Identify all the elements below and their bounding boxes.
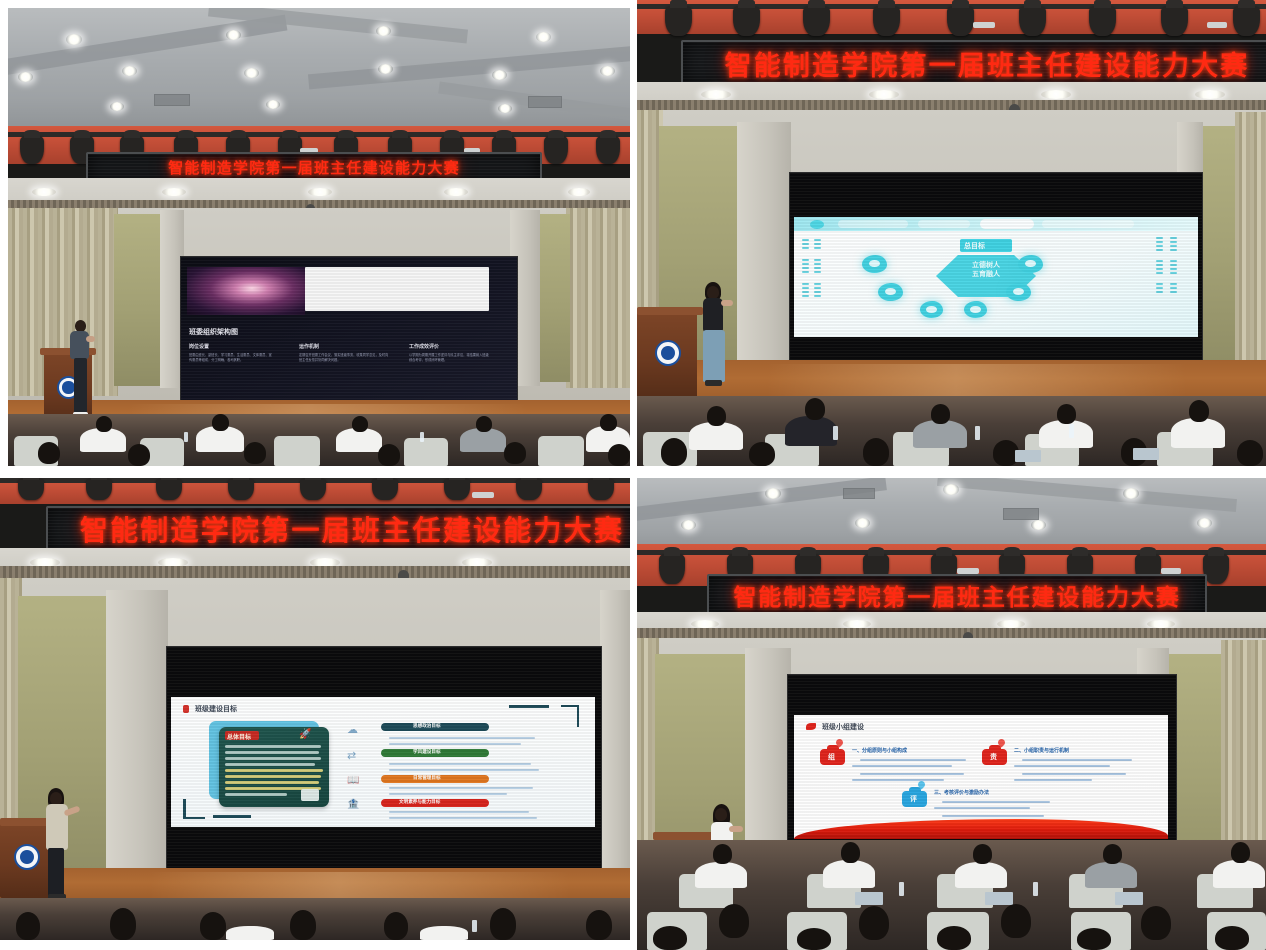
- goal-bar-label: 日常管理目标: [413, 775, 441, 781]
- slide-column-title: 工作成效评价: [409, 343, 439, 350]
- downlight: [765, 488, 781, 499]
- slide-block-heading: 一、分组原则与小组构成: [852, 747, 907, 754]
- slide-card-badge-label: 总体目标: [227, 732, 251, 741]
- lighting-truss: [8, 132, 630, 137]
- slide-left-text: [814, 239, 821, 297]
- stage-spotlight: [1161, 6, 1188, 36]
- wall-downlight: [32, 188, 56, 196]
- water-bottle: [420, 432, 424, 442]
- led-banner-text: 智能制造学院第一届班主任建设能力大赛: [725, 44, 1250, 83]
- slide-title-mark: [183, 705, 189, 713]
- stage-spotlight: [18, 478, 44, 500]
- hex-line-2: 五育融人: [972, 270, 1000, 278]
- hex-line-1: 立德树人: [972, 261, 1000, 269]
- wall-downlight: [843, 620, 871, 628]
- audience: [8, 414, 630, 466]
- led-banner: 智能制造学院第一届班主任建设能力大赛: [707, 574, 1207, 616]
- photo-top-left: 智能制造学院第一届班主任建设能力大赛 班委组织架构图 岗位设置 班委由班长、副班…: [8, 8, 630, 466]
- slide-footer-wave: [794, 819, 1168, 839]
- downlight: [1031, 520, 1046, 530]
- slide-nav-pill: [838, 220, 908, 228]
- downlight: [18, 72, 33, 82]
- presenter-shoe: [705, 380, 722, 386]
- audience-shoulders: [1085, 862, 1137, 888]
- corner-decoration: [183, 799, 186, 817]
- slide-left-text: [802, 239, 809, 297]
- led-banner-text: 智能制造学院第一届班主任建设能力大赛: [80, 509, 624, 549]
- audience-head: [1103, 844, 1122, 864]
- stage-led-screen: 总目标 立德树人 五育融人: [789, 172, 1203, 376]
- slide-chip-glyph: 评: [910, 794, 917, 804]
- card-text-line: [225, 757, 321, 760]
- slide-white-panel: [305, 267, 489, 311]
- goal-bullet: [389, 793, 507, 795]
- slide-heading: 班委组织架构图: [189, 327, 238, 337]
- water-bottle: [184, 432, 188, 442]
- goal-bullet: [389, 817, 537, 819]
- goal-bullet: [389, 743, 521, 745]
- card-text-line: [225, 793, 287, 796]
- slide-text-line: [934, 807, 1030, 809]
- slide-chip-glyph: 组: [828, 752, 835, 762]
- card-text-line: [225, 763, 315, 766]
- wall-panel: [536, 214, 570, 382]
- audience-head: [1077, 928, 1111, 950]
- stage-spotlight: [733, 6, 760, 36]
- laptop: [985, 892, 1013, 905]
- card-text-line-highlight: [225, 775, 321, 778]
- stage-spotlight: [803, 6, 830, 36]
- audience: [0, 898, 630, 940]
- slide-node: [920, 301, 943, 318]
- stage-spotlight: [372, 478, 398, 500]
- slide-text-line: [1022, 773, 1126, 775]
- stage-spotlight: [588, 478, 614, 500]
- podium-emblem: [14, 844, 40, 870]
- stage-curtain: [1235, 112, 1266, 368]
- downlight: [226, 30, 241, 40]
- wall-downlight: [1147, 620, 1175, 628]
- audience-head: [244, 442, 266, 464]
- audience-head: [1231, 842, 1250, 863]
- audience-head: [504, 442, 526, 464]
- audience-head: [128, 444, 150, 466]
- slide-title: 班级建设目标: [195, 704, 237, 714]
- stage-led-screen: 班委组织架构图 岗位设置 班委由班长、副班长、学习委员、生活委员、文体委员、宣传…: [180, 256, 518, 410]
- downlight: [943, 484, 959, 495]
- slide-column-body: 以学期为周期开展工作述评与民主评议，将结果纳入班级综合考评，形成闭环管理。: [409, 353, 491, 362]
- audience-head: [859, 906, 889, 940]
- stage-spotlight: [596, 136, 620, 164]
- audience-head: [841, 842, 860, 863]
- audience-head: [863, 438, 889, 466]
- stage-spotlight: [659, 554, 685, 584]
- stage-spotlight: [516, 478, 542, 500]
- led-banner: 智能制造学院第一届班主任建设能力大赛: [681, 40, 1266, 86]
- slide-node: [1018, 255, 1043, 273]
- audience-head: [352, 416, 368, 432]
- stage-spotlight: [228, 478, 254, 500]
- wall-pillar: [737, 122, 791, 372]
- slide-photo: [187, 267, 305, 315]
- goal-bar-label: 文明素养与能力目标: [399, 799, 440, 805]
- audience-head: [973, 844, 992, 864]
- audience-head: [1057, 404, 1076, 424]
- audience-shoulders: [785, 416, 837, 446]
- exchange-icon: ⇄: [347, 749, 356, 762]
- audience-head: [707, 406, 726, 426]
- slide-title-mark: [806, 723, 816, 730]
- card-text-line-highlight: [225, 769, 323, 772]
- slide-logo-dot: [810, 220, 824, 229]
- audience-head: [600, 414, 617, 431]
- photo-collage: 智能制造学院第一届班主任建设能力大赛 班委组织架构图 岗位设置 班委由班长、副班…: [0, 0, 1266, 950]
- slide-teal: 总目标 立德树人 五育融人: [794, 217, 1198, 337]
- spotlight-body: [1207, 22, 1227, 28]
- audience-head: [1189, 400, 1209, 422]
- slide-text-line: [1014, 765, 1110, 767]
- audience-head: [1237, 440, 1263, 466]
- wall-downlight: [691, 620, 719, 628]
- slide-text-line: [1022, 759, 1132, 761]
- ac-vent: [154, 94, 190, 106]
- stage-spotlight: [1089, 6, 1116, 36]
- slide-column-body: 班委由班长、副班长、学习委员、生活委员、文体委员、宣传委员等组成，分工明确，各司…: [189, 353, 275, 362]
- card-text-line: [225, 751, 319, 754]
- slide-column-body: 定期召开班委工作会议，落实班级事务，收集同学意见，及时向班主任反馈并协同解决问题…: [299, 353, 391, 362]
- presenter-head: [715, 808, 727, 821]
- slide-text-line: [852, 779, 944, 781]
- downlight: [681, 520, 696, 530]
- audience-head: [1001, 904, 1031, 938]
- audience-head: [16, 912, 40, 940]
- ac-vent: [843, 488, 875, 499]
- goal-bar-label: 思想政治目标: [413, 723, 441, 729]
- water-bottle: [833, 426, 838, 440]
- photo-bottom-left: 智能制造学院第一届班主任建设能力大赛 班级建设目标: [0, 478, 630, 940]
- water-bottle: [1069, 424, 1074, 438]
- led-banner-text: 智能制造学院第一届班主任建设能力大赛: [168, 157, 460, 178]
- audience-head: [110, 908, 136, 940]
- stage-spotlight: [86, 478, 112, 500]
- audience: [637, 396, 1266, 466]
- stage-spotlight: [20, 136, 44, 164]
- audience-shoulders: [955, 862, 1007, 888]
- presenter-arm: [729, 826, 743, 832]
- slide-text-line: [860, 773, 964, 775]
- audience-shoulders: [226, 926, 274, 940]
- water-bottle: [975, 426, 980, 440]
- audience-head: [378, 444, 400, 466]
- slide-top-caption-label: 总目标: [964, 241, 985, 251]
- audience-head: [797, 928, 831, 950]
- wall-downlight: [444, 188, 468, 196]
- slide-nav-active: [980, 219, 1034, 229]
- slide-chip-glyph: 责: [990, 752, 997, 762]
- stage-spotlight: [156, 478, 182, 500]
- slide-text-line: [942, 815, 1044, 817]
- slide-right-text: [1156, 237, 1163, 293]
- slide-text-line: [860, 759, 966, 761]
- slide-node: [878, 283, 903, 301]
- audience-shoulders: [913, 420, 967, 448]
- laptop: [1133, 448, 1159, 460]
- audience-head: [937, 926, 971, 950]
- photo-top-right: 智能制造学院第一届班主任建设能力大赛 总目标: [637, 0, 1266, 466]
- wall-downlight: [1195, 90, 1225, 99]
- corner-decoration: [183, 817, 205, 819]
- audience-shoulders: [420, 926, 468, 940]
- slide-text-line: [852, 765, 952, 767]
- audience-head: [384, 912, 408, 940]
- audience-head: [586, 910, 612, 940]
- goal-bullet: [389, 811, 529, 813]
- wall-downlight: [568, 188, 590, 196]
- slide-dark: 班委组织架构图 岗位设置 班委由班长、副班长、学习委员、生活委员、文体委员、宣传…: [181, 257, 517, 409]
- audience-head: [1141, 906, 1171, 940]
- audience-head: [931, 404, 950, 424]
- wall-downlight: [869, 90, 899, 99]
- slide-red: 班级小组建设 组 一、分组原则与小组构成 责 二、小组职责与运行机制: [794, 715, 1168, 839]
- led-banner-text: 智能制造学院第一届班主任建设能力大赛: [733, 578, 1180, 612]
- card-text-line: [225, 745, 321, 748]
- audience-shoulders: [1171, 418, 1225, 448]
- wall-downlight: [308, 188, 332, 196]
- audience-shoulders: [1213, 860, 1265, 888]
- downlight: [66, 34, 82, 45]
- slide-nav-pill: [918, 220, 970, 228]
- water-bottle: [472, 920, 477, 932]
- downlight: [855, 518, 870, 528]
- stage-curtain: [566, 208, 630, 388]
- wall-pillar: [106, 590, 168, 880]
- stage-spotlight: [1233, 6, 1260, 36]
- audience-head: [661, 438, 687, 466]
- downlight: [498, 104, 512, 113]
- presenter-legs: [74, 358, 87, 414]
- wall-downlight: [701, 90, 731, 99]
- downlight: [492, 70, 507, 80]
- stage-spotlight: [665, 6, 692, 36]
- laptop: [1015, 450, 1041, 462]
- goal-bullet: [389, 763, 531, 765]
- slide-title: 班级小组建设: [822, 722, 864, 732]
- presenter-torso: [70, 331, 89, 359]
- presenter-skirt: [703, 330, 725, 382]
- stage-led-screen: 班级建设目标 总体目标 🚀: [166, 646, 602, 880]
- downlight: [244, 68, 259, 78]
- seat: [404, 438, 448, 466]
- laptop: [1115, 892, 1143, 905]
- slide-node: [964, 301, 987, 318]
- stage-spotlight: [300, 478, 326, 500]
- podium-top: [653, 832, 717, 840]
- spotlight-body: [472, 492, 494, 498]
- wall-pillar: [600, 590, 630, 876]
- seat: [538, 436, 584, 466]
- slide-node: [862, 255, 887, 273]
- slide-column-title: 岗位设置: [189, 343, 209, 350]
- wall-panel: [1197, 126, 1239, 368]
- wall-downlight: [997, 620, 1025, 628]
- rocket-icon: 🚀: [299, 729, 311, 740]
- stage-spotlight: [947, 6, 974, 36]
- stage-spotlight: [873, 6, 900, 36]
- audience-head: [653, 926, 687, 950]
- laptop: [855, 892, 883, 905]
- presenter-arm: [86, 336, 95, 342]
- audience-head: [713, 844, 732, 864]
- presenter-legs: [48, 848, 64, 896]
- audience: [637, 840, 1266, 950]
- audience-shoulders: [1039, 420, 1093, 448]
- water-bottle: [899, 882, 904, 896]
- slide-goals: 班级建设目标 总体目标 🚀: [171, 697, 595, 827]
- audience-head: [490, 908, 516, 940]
- bank-icon: [301, 789, 319, 801]
- audience-shoulders: [689, 422, 743, 450]
- wall-downlight: [1041, 90, 1071, 99]
- downlight: [536, 32, 551, 42]
- book-icon: 📖: [347, 775, 359, 786]
- audience-head: [212, 414, 229, 431]
- stage-spotlight: [444, 478, 470, 500]
- downlight: [110, 102, 124, 111]
- slide-block-heading: 二、小组职责与运行机制: [1014, 747, 1069, 754]
- audience-head: [749, 442, 775, 466]
- presenter-arm: [721, 300, 733, 306]
- audience-head: [38, 442, 60, 464]
- downlight: [266, 100, 280, 109]
- audience-head: [608, 444, 630, 466]
- goal-bullet: [389, 737, 535, 739]
- presenter-torso: [703, 298, 723, 332]
- goal-bullet: [389, 787, 533, 789]
- downlight: [600, 66, 615, 76]
- podium-top: [637, 307, 703, 315]
- audience-head: [96, 416, 112, 432]
- corner-decoration: [577, 705, 579, 727]
- goal-bar-label: 学风建设目标: [413, 749, 441, 755]
- slide-nav-pill: [1042, 220, 1134, 228]
- downlight: [376, 26, 391, 36]
- slide-text-line: [1014, 779, 1092, 781]
- photo-bottom-right: 智能制造学院第一届班主任建设能力大赛 班级小组建设 组 一、分组原则与小组构成: [637, 478, 1266, 950]
- led-banner: 智能制造学院第一届班主任建设能力大赛: [46, 506, 630, 552]
- seat: [274, 436, 320, 466]
- goal-bullet: [389, 769, 539, 771]
- audience-shoulders: [823, 860, 875, 888]
- audience-shoulders: [695, 862, 747, 888]
- downlight: [122, 66, 137, 76]
- slide-right-text: [1170, 237, 1177, 293]
- podium-emblem: [655, 340, 681, 366]
- slide-column-title: 运作机制: [299, 343, 319, 350]
- water-bottle: [1033, 882, 1038, 896]
- downlight: [1123, 488, 1139, 499]
- downlight: [1197, 518, 1212, 528]
- corner-decoration: [509, 705, 549, 708]
- audience-head: [476, 416, 492, 432]
- stage-spotlight: [544, 136, 568, 164]
- wall-panel: [114, 214, 166, 386]
- stage-spotlight: [1019, 6, 1046, 36]
- audience-head: [200, 912, 226, 940]
- audience-head: [1215, 926, 1249, 950]
- corner-decoration: [213, 815, 251, 818]
- slide-text-line: [942, 801, 1050, 803]
- slide-node: [1006, 283, 1031, 301]
- bank-icon: 🏦: [347, 799, 359, 810]
- slide-block-heading: 三、考核评价与激励办法: [934, 789, 989, 796]
- ac-vent: [1003, 508, 1039, 520]
- audience-head: [290, 910, 316, 940]
- ac-vent: [528, 96, 562, 108]
- spotlight-body: [973, 22, 995, 28]
- card-text-line-highlight: [225, 781, 319, 784]
- downlight: [378, 64, 393, 74]
- audience-head: [805, 398, 825, 420]
- cloud-icon: ☁: [347, 723, 358, 736]
- audience-head: [719, 904, 749, 938]
- wall-downlight: [162, 188, 186, 196]
